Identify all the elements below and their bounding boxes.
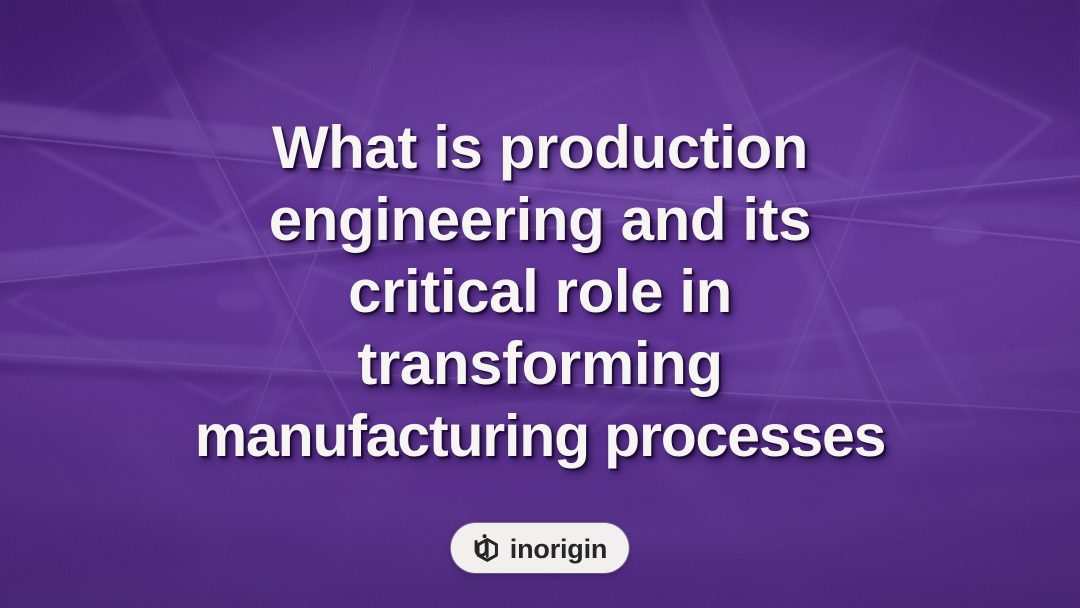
article-header-banner: What is production engineering and its c…	[0, 0, 1080, 608]
hexagon-cube-icon	[470, 533, 501, 564]
headline-line-4: transforming	[26, 328, 1054, 400]
headline-line-5: manufacturing processes	[26, 400, 1054, 472]
headline-line-2: engineering and its	[26, 184, 1054, 256]
headline-line-1: What is production	[26, 112, 1054, 184]
headline: What is production engineering and its c…	[0, 112, 1080, 472]
logo-badge[interactable]: inorigin	[451, 523, 629, 573]
headline-line-3: critical role in	[26, 256, 1054, 328]
logo-wordmark: inorigin	[510, 536, 607, 563]
